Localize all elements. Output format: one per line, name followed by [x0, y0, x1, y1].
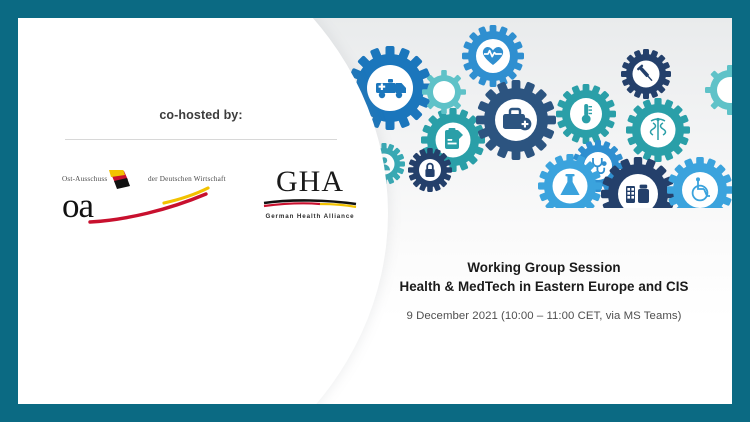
slide-frame: co-hosted by: Ost-Ausschuss der Deutsche…	[0, 0, 750, 422]
cohost-section: co-hosted by:	[36, 108, 366, 140]
cohosted-by-label: co-hosted by:	[36, 108, 366, 122]
session-title-line1: Working Group Session	[368, 258, 720, 277]
ost-ausschuss-logo: Ost-Ausschuss der Deutschen Wirtschaft o…	[56, 170, 224, 232]
gha-flag-swoosh	[264, 200, 356, 207]
gear-syringe	[611, 39, 682, 110]
session-title-line2: Health & MedTech in Eastern Europe and C…	[368, 277, 720, 296]
logo-row: Ost-Ausschuss der Deutschen Wirtschaft o…	[36, 166, 366, 236]
session-info: Working Group Session Health & MedTech i…	[368, 258, 720, 322]
divider-rule	[65, 139, 337, 140]
session-datetime: 9 December 2021 (10:00 – 11:00 CET, via …	[368, 310, 720, 322]
gear-heart-pulse	[449, 18, 537, 100]
oa-lettermark: oa	[62, 188, 93, 223]
oa-flag-swoosh	[90, 170, 208, 222]
slide-canvas: co-hosted by: Ost-Ausschuss der Deutsche…	[18, 18, 732, 404]
gha-logo: GHA German Health Alliance	[258, 166, 362, 234]
gha-lettermark: GHA	[258, 166, 362, 198]
gear-partial-right	[695, 55, 732, 126]
gear-graphic	[348, 18, 732, 208]
gha-subtitle: German Health Alliance	[258, 213, 362, 220]
